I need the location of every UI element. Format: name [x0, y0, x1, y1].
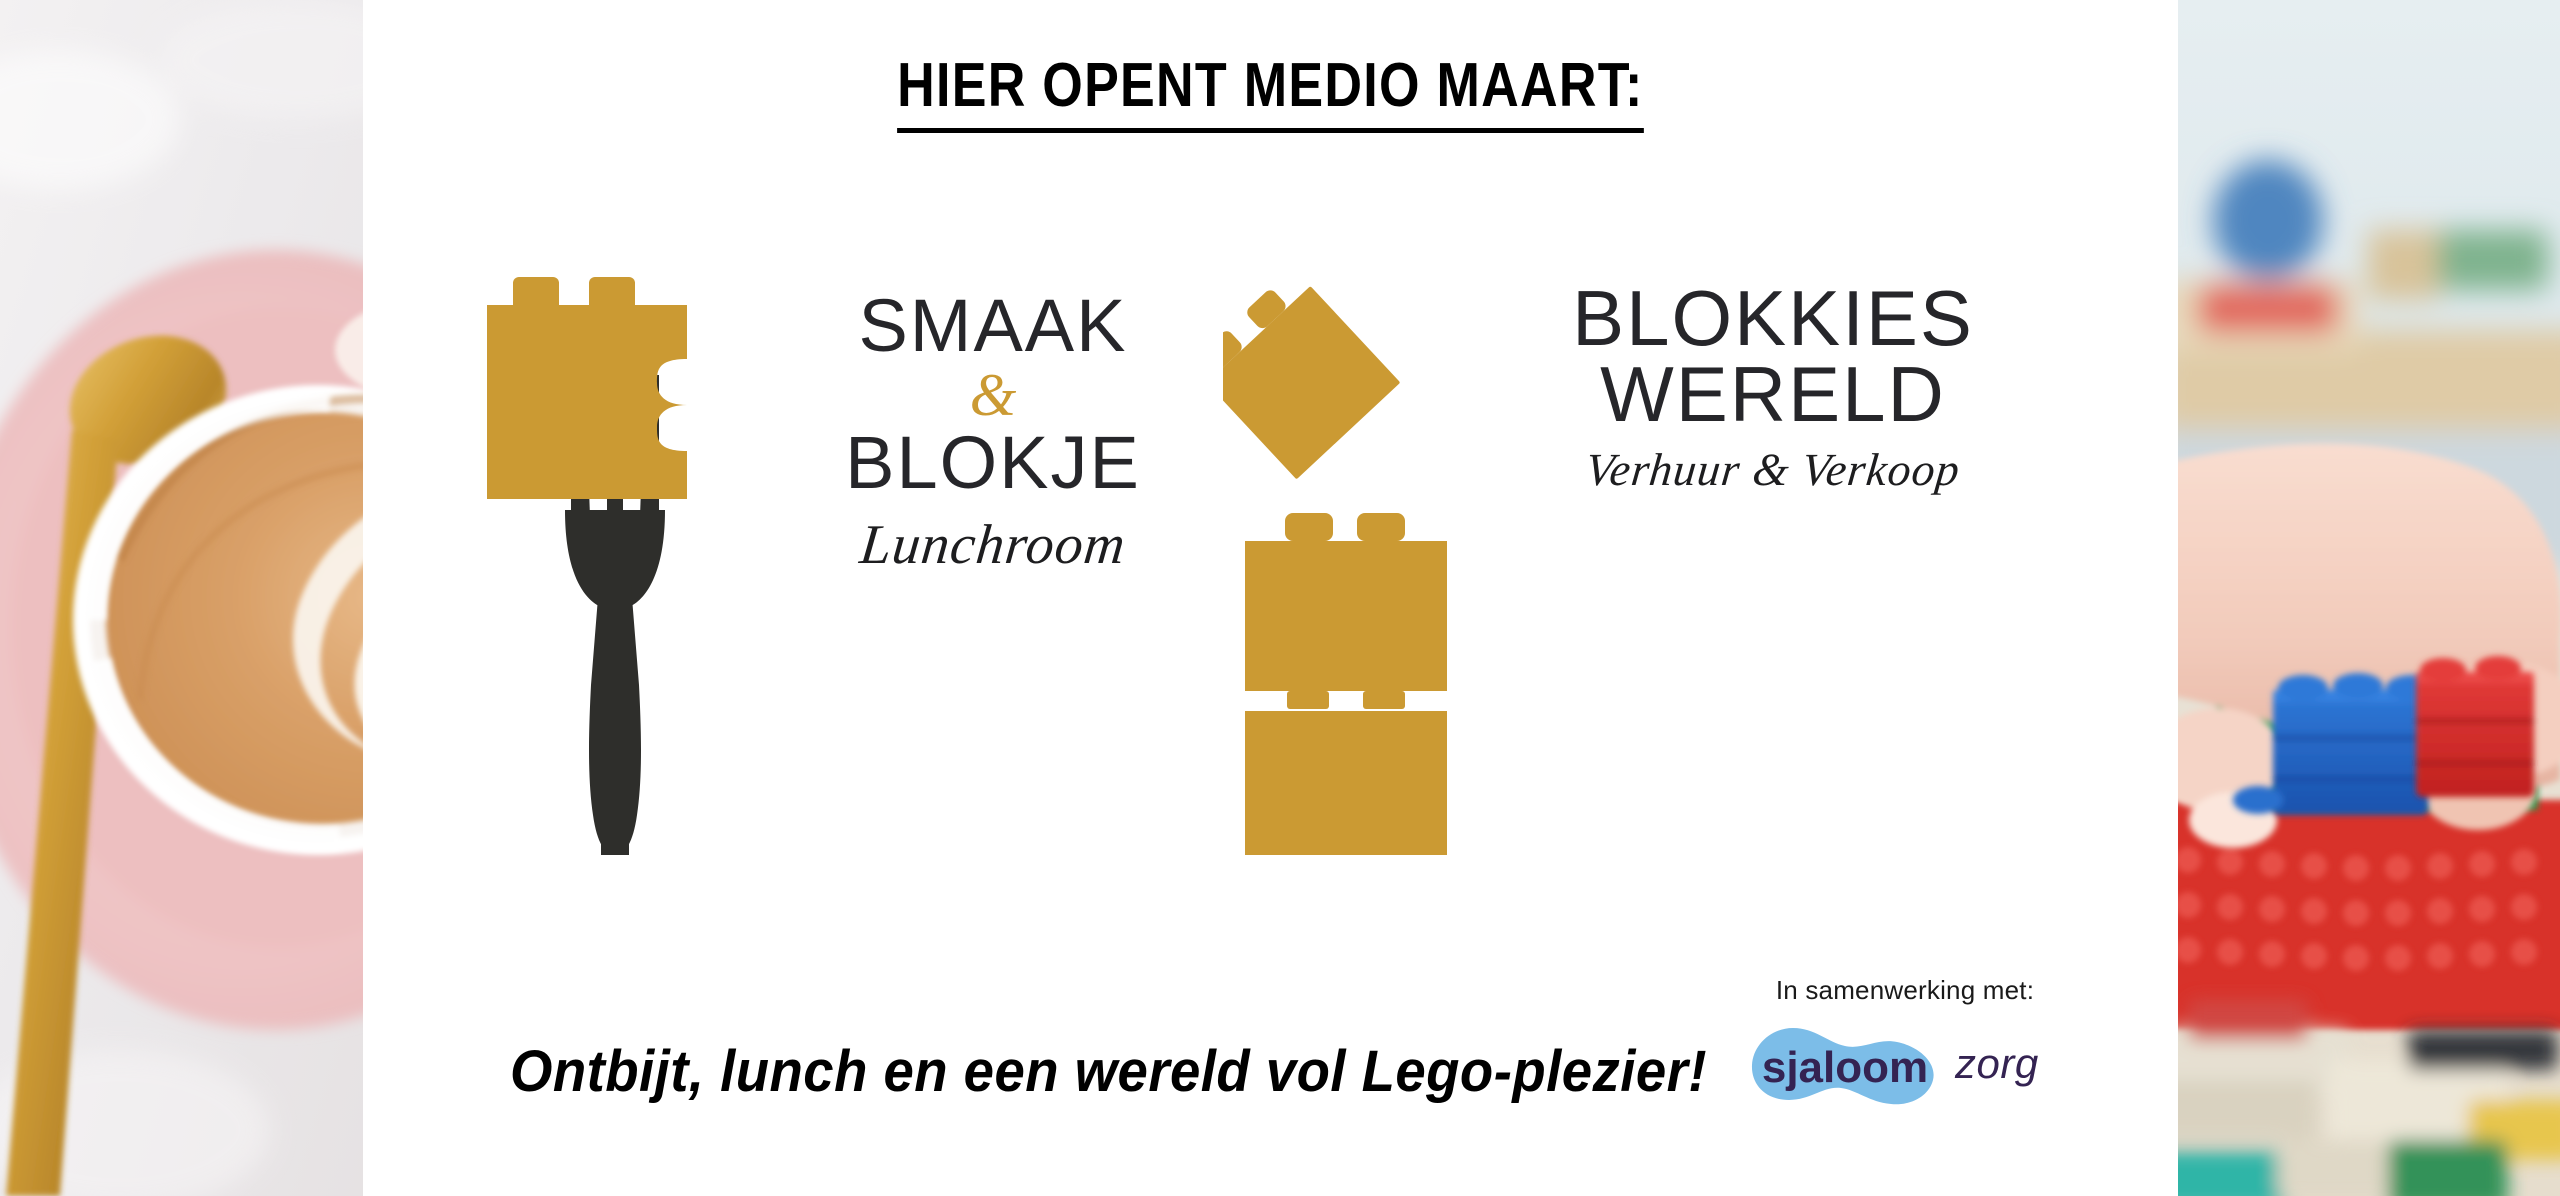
brand-line-2: BLOKJE	[845, 421, 1141, 504]
brand-smaak-en-blokje: SMAAK & BLOKJE Lunchroom	[473, 255, 1213, 875]
brand-blokkies-wereld: BLOKKIES WERELD Verhuur & Verkoop	[1223, 255, 2063, 875]
brand-blokkies-wordmark: BLOKKIES WERELD Verhuur & Verkoop	[1493, 280, 2053, 496]
page-title: HIER OPENT MEDIO MAART:	[363, 54, 2178, 133]
poster-canvas: HIER OPENT MEDIO MAART:	[0, 0, 2560, 1196]
sjaloom-wordmark: sjaloom	[1762, 1043, 1928, 1092]
logo-row: SMAAK & BLOKJE Lunchroom	[363, 255, 2178, 895]
child-playing-lego-photo	[2178, 0, 2560, 1196]
brand-smaak-wordmark: SMAAK & BLOKJE Lunchroom	[773, 290, 1213, 577]
brand-line-2: WERELD	[1600, 350, 1946, 438]
sjaloom-zorg-logo: sjaloom zorg	[1745, 1020, 2065, 1110]
partner-label: In samenwerking met:	[1745, 975, 2065, 1006]
brand-subtitle: Verhuur & Verkoop	[1490, 443, 2056, 496]
sjaloom-blob-icon: sjaloom	[1745, 1020, 1945, 1110]
zorg-wordmark: zorg	[1955, 1040, 2039, 1088]
brand-subtitle: Lunchroom	[770, 513, 1217, 577]
brand-line-1: SMAAK	[858, 284, 1127, 367]
partner-block: In samenwerking met: sjaloom zorg	[1745, 975, 2065, 1110]
ampersand: &	[773, 365, 1213, 425]
brand-line-1: BLOKKIES	[1572, 274, 1974, 362]
stacked-lego-bricks-icon	[1223, 255, 1493, 855]
cappuccino-latte-art-photo	[0, 0, 363, 1196]
bitten-lego-brick-on-fork-icon	[473, 255, 773, 855]
tagline: Ontbijt, lunch en een wereld vol Lego-pl…	[510, 1038, 1707, 1105]
headline-text: HIER OPENT MEDIO MAART:	[897, 54, 1644, 133]
